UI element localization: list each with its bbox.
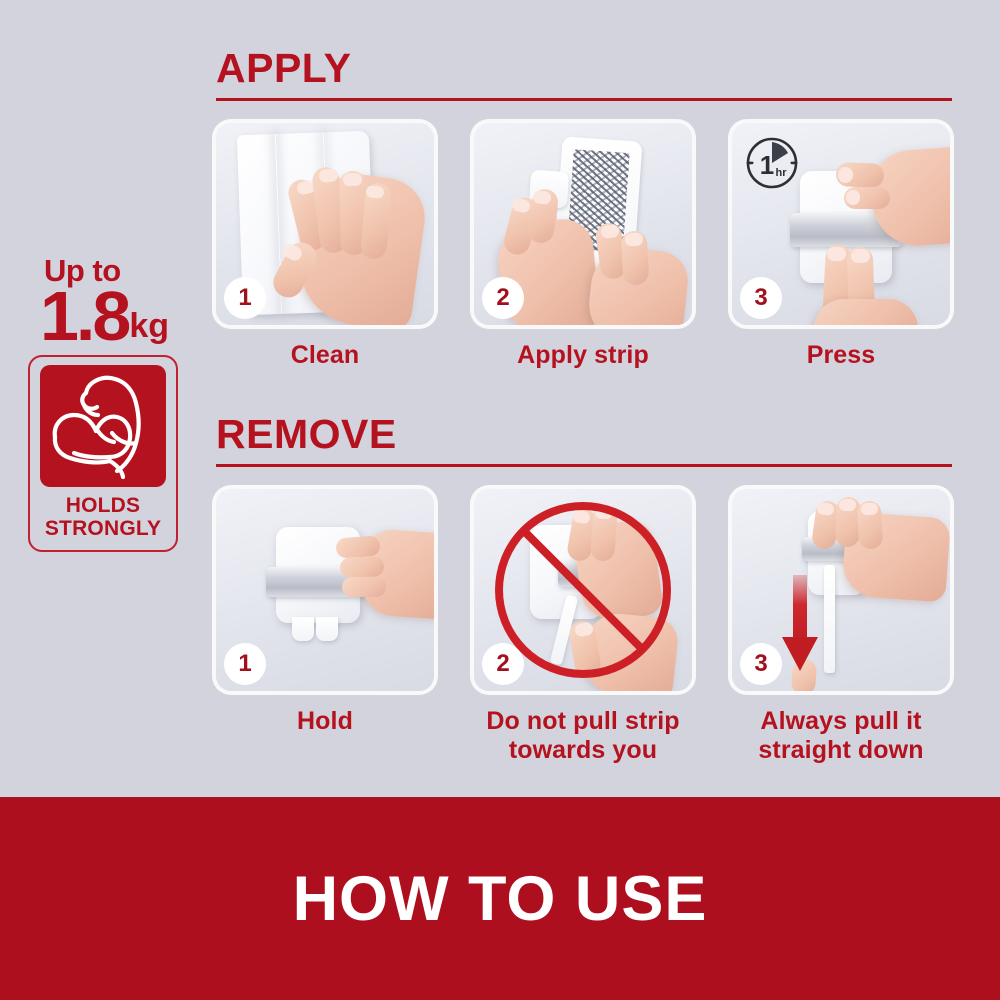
finger	[335, 535, 380, 558]
step-number-badge: 2	[482, 643, 524, 685]
fingernail	[625, 233, 644, 247]
step-apply-1: 1 Clean	[216, 123, 434, 370]
step-number-badge: 1	[224, 277, 266, 319]
step-remove-3-caption: Always pull it straight down	[732, 707, 950, 765]
infographic-canvas: Up to 1.8 kg	[0, 0, 1000, 1000]
caption-line: Always pull it	[732, 707, 950, 736]
step-apply-2-image: 2	[474, 123, 692, 325]
step-remove-2: 2 Do not pull strip towards you	[474, 489, 692, 765]
badge-weight-value: 1.8	[40, 285, 128, 347]
remove-steps-row: 1 Hold	[216, 489, 952, 765]
step-number-badge: 1	[224, 643, 266, 685]
badge-holds-line2: STRONGLY	[30, 517, 176, 540]
strip-pull-tab-right	[316, 617, 338, 641]
section-remove-rule	[216, 464, 952, 467]
step-number-badge: 3	[740, 643, 782, 685]
step-apply-2-caption: Apply strip	[474, 341, 692, 370]
step-number-badge: 3	[740, 277, 782, 319]
section-apply-rule	[216, 98, 952, 101]
step-number-badge: 2	[482, 277, 524, 319]
fingernail	[861, 503, 879, 516]
svg-text:hr: hr	[776, 167, 788, 179]
badge-holds-text: HOLDS STRONGLY	[30, 494, 176, 540]
bottom-banner: HOW TO USE	[0, 797, 1000, 1000]
step-apply-3-caption: Press	[732, 341, 950, 370]
fingernail	[827, 247, 846, 261]
step-remove-2-image: 2	[474, 489, 692, 691]
step-apply-2: 2 Apply strip	[474, 123, 692, 370]
section-remove: REMOVE 1 Hold	[216, 412, 952, 765]
fingernail	[838, 167, 853, 183]
caption-line: towards you	[474, 736, 692, 765]
section-remove-heading: REMOVE	[216, 412, 952, 456]
step-remove-1: 1 Hold	[216, 489, 434, 765]
fingernail	[851, 249, 870, 263]
step-remove-3-image: 3	[732, 489, 950, 691]
step-apply-3-image: 1 hr 3	[732, 123, 950, 325]
weight-capacity-badge: Up to 1.8 kg	[28, 255, 186, 552]
svg-text:1: 1	[760, 150, 774, 180]
badge-card: HOLDS STRONGLY	[28, 355, 178, 552]
flexed-bicep-icon	[40, 365, 166, 487]
step-remove-1-image: 1	[216, 489, 434, 691]
fingernail	[366, 185, 385, 199]
fingernail	[839, 499, 856, 511]
caption-line: Apply strip	[474, 341, 692, 370]
down-arrow-icon	[780, 575, 820, 675]
fingernail	[846, 190, 860, 205]
step-apply-3: 1 hr 3 Press	[732, 123, 950, 370]
apply-steps-row: 1 Clean	[216, 123, 952, 370]
step-apply-1-image: 1	[216, 123, 434, 325]
fingernail	[343, 173, 362, 186]
step-remove-3: 3 Always pull it straight down	[732, 489, 950, 765]
banner-title: HOW TO USE	[293, 866, 708, 932]
timer-1hr-icon: 1 hr	[744, 135, 800, 191]
step-remove-1-caption: Hold	[216, 707, 434, 736]
badge-weight-row: 1.8 kg	[28, 285, 186, 347]
badge-weight-unit: kg	[129, 309, 169, 343]
pulled-strip	[824, 565, 835, 673]
hand-illustration	[814, 299, 918, 325]
section-apply-heading: APPLY	[216, 46, 952, 90]
badge-holds-line1: HOLDS	[30, 494, 176, 517]
caption-line: Do not pull strip	[474, 707, 692, 736]
strip-pull-tab-left	[292, 617, 314, 641]
step-remove-2-caption: Do not pull strip towards you	[474, 707, 692, 765]
step-apply-1-caption: Clean	[216, 341, 434, 370]
caption-line: Clean	[216, 341, 434, 370]
caption-line: Press	[732, 341, 950, 370]
finger	[342, 577, 386, 597]
finger	[340, 556, 385, 578]
caption-line: Hold	[216, 707, 434, 736]
section-apply: APPLY	[216, 46, 952, 370]
caption-line: straight down	[732, 736, 950, 765]
